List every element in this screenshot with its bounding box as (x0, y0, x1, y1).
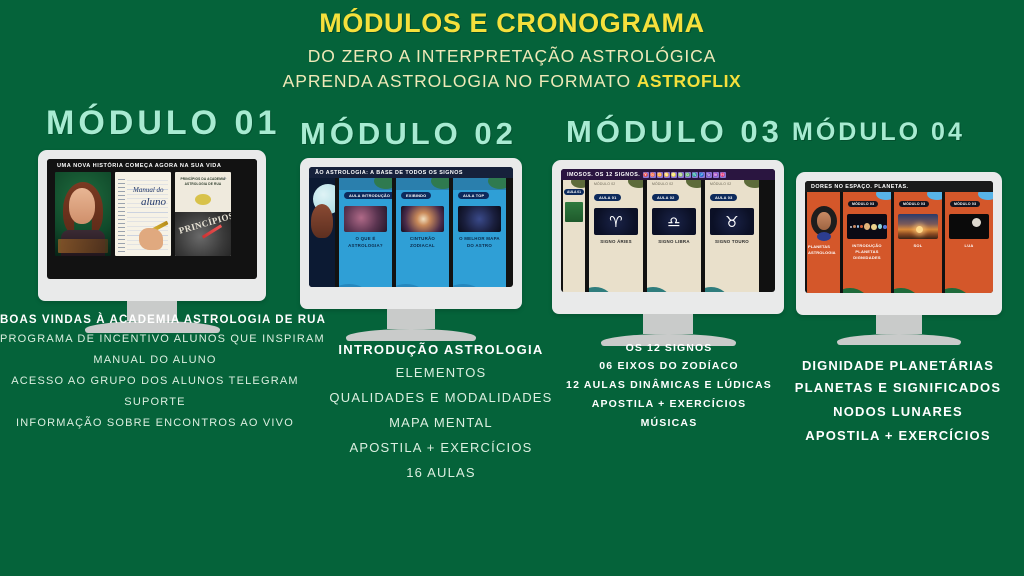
zodiac-glyph: ♌ (671, 172, 677, 178)
module-01-description-line: ACESSO AO GRUPO DOS ALUNOS TELEGRAM (0, 371, 310, 392)
module-03-description-heading: OS 12 SIGNOS (556, 342, 782, 354)
card-caption: SOL (894, 243, 942, 249)
card-caption: SIGNO ÁRIES (589, 239, 643, 246)
lesson-card[interactable]: MÓDULO 03 LUA (945, 192, 993, 293)
module-02-description-line: 16 AULAS (322, 460, 560, 485)
decor-blob (927, 192, 942, 200)
screen-content-module-03: IMOSOS. OS 12 SIGNOS. ♈♉♊♋♌♍♎♏♐♑♒♓ AULA … (561, 169, 775, 292)
card-lesson-pill: AULA INTRODUÇÃO (344, 192, 392, 199)
card-caption: LUA (945, 243, 993, 249)
card-caption: CINTURÃO ZODIACAL (396, 236, 449, 249)
module-heading-01: MÓDULO 01 (46, 104, 280, 143)
card-lesson-pill: AULA 02 (652, 194, 679, 201)
zodiac-libra-icon: ♎ (652, 208, 696, 235)
zodiac-glyph: ♐ (699, 172, 705, 178)
zodiac-glyph: ♉ (650, 172, 656, 178)
decor-blob (945, 288, 971, 293)
decor-blob (589, 287, 613, 292)
sun-icon (916, 226, 923, 233)
module-heading-02: MÓDULO 02 (300, 116, 517, 152)
module-02-description-heading: INTRODUÇÃO ASTROLOGIA (322, 342, 560, 357)
screen-header-module-01: UMA NOVA HISTÓRIA COMEÇA AGORA NA SUA VI… (47, 159, 257, 172)
module-04-description: DIGNIDADE PLANETÁRIAS PLANETAS E SIGNIFI… (772, 358, 1024, 448)
card-thumbnail (847, 214, 887, 239)
decor-blob (571, 180, 585, 188)
side-lesson-pill: AULA 01 (564, 189, 584, 195)
side-panel-intro: AULA 01 (563, 180, 585, 292)
module-01-description: BOAS VINDAS À ACADEMIA ASTROLOGIA DE RUA… (0, 314, 310, 434)
decor-blob (744, 180, 759, 188)
zodiac-taurus-icon: ♉ (710, 208, 754, 235)
card-thumbnail (898, 214, 938, 239)
lesson-card[interactable]: MÓDULO 01 EXIBINDO CINTURÃO ZODIACAL (396, 178, 449, 287)
screen-content-module-02: ÃO ASTROLOGIA: A BASE DE TODOS OS SIGNOS… (309, 167, 513, 287)
module-03-description-line: 06 EIXOS DO ZODÍACO (556, 357, 782, 376)
card-title-text: PRINCÍPIOS DA ACADEMIA ASTROLOGIA DE RUA (179, 177, 227, 187)
module-02-description-line: QUALIDADES E MODALIDADES (322, 385, 560, 410)
zodiac-glyph: ♍ (678, 172, 684, 178)
monitor-stand-neck (876, 315, 922, 334)
card-thumbnail (458, 206, 501, 232)
card-lesson-pill: MÓDULO 03 (950, 201, 980, 207)
monitor-bezel: ÃO ASTROLOGIA: A BASE DE TODOS OS SIGNOS… (300, 158, 522, 309)
monitor-bezel: UMA NOVA HISTÓRIA COMEÇA AGORA NA SUA VI… (38, 150, 266, 301)
side-panel-presenter (309, 178, 335, 287)
decor-blob (628, 180, 643, 188)
monitor-module-01: UMA NOVA HISTÓRIA COMEÇA AGORA NA SUA VI… (38, 150, 266, 333)
monitor-screen[interactable]: DORES NO ESPAÇO. PLANETAS. PLANETAS ASTR… (805, 181, 993, 293)
module-04-description-line: PLANETAS E SIGNIFICADOS (772, 376, 1024, 400)
card-lesson-pill: AULA 03 (710, 194, 737, 201)
card-thumbnail: ♉ (710, 208, 754, 235)
decor-blob (876, 192, 891, 200)
side-panel-label: PLANETAS ASTROLOGIA (808, 244, 839, 256)
module-03-description-line: MÚSICAS (556, 414, 782, 433)
decor-blob (396, 284, 426, 287)
module-04-description-line: APOSTILA + EXERCÍCIOS (772, 424, 1024, 448)
side-thumbnail (565, 202, 583, 222)
decor-blob (686, 180, 701, 188)
module-02-description-line: MAPA MENTAL (322, 410, 560, 435)
monitor-stand-neck (387, 309, 435, 329)
caption-bar (58, 239, 108, 253)
lesson-card[interactable]: MÓDULO 02 AULA 03 ♉ SIGNO TOURO (705, 180, 759, 292)
monitor-screen[interactable]: UMA NOVA HISTÓRIA COMEÇA AGORA NA SUA VI… (47, 159, 257, 279)
screen-header-module-04: DORES NO ESPAÇO. PLANETAS. (805, 181, 993, 192)
module-02-description: INTRODUÇÃO ASTROLOGIA ELEMENTOS QUALIDAD… (322, 342, 560, 485)
zodiac-glyph: ♋ (664, 172, 670, 178)
zodiac-glyph: ♓ (720, 172, 726, 178)
page-title: MÓDULOS E CRONOGRAMA (0, 8, 1024, 39)
lesson-card[interactable]: MÓDULO 02 AULA 02 ♎ SIGNO LIBRA (647, 180, 701, 292)
zodiac-glyph: ♈ (643, 172, 649, 178)
moon-icon (972, 218, 981, 227)
card-thumbnail (344, 206, 387, 232)
hand-illustration (139, 228, 163, 250)
lesson-card-row: MÓDULO 02 AULA 01 ♈ SIGNO ÁRIES MÓDULO 0… (585, 180, 759, 292)
card-thumbnail (949, 214, 989, 239)
card-caption: INTRODUÇÃO PLANETAS DIGNIDADES (843, 243, 891, 261)
lesson-grid: MÓDULO 01 AULA INTRODUÇÃO O QUE É ASTROL… (309, 178, 513, 287)
decor-blob (453, 284, 483, 287)
module-02-description-line: APOSTILA + EXERCÍCIOS (322, 435, 560, 460)
screen-header-text: IMOSOS. OS 12 SIGNOS. (567, 172, 640, 178)
monitor-stand-neck (643, 314, 693, 334)
zodiac-aries-icon: ♈ (594, 208, 638, 235)
module-heading-04: MÓDULO 04 (792, 118, 965, 147)
subtitle-line-2: APRENDA ASTROLOGIA NO FORMATO ASTROFLIX (0, 71, 1024, 92)
zodiac-glyph: ♏ (692, 172, 698, 178)
brand-astroflix: ASTROFLIX (637, 71, 742, 91)
monitor-screen[interactable]: ÃO ASTROLOGIA: A BASE DE TODOS OS SIGNOS… (309, 167, 513, 287)
module-04-description-heading: DIGNIDADE PLANETÁRIAS (772, 358, 1024, 373)
module-01-description-line: MANUAL DO ALUNO (0, 350, 310, 371)
decor-blob (894, 288, 920, 293)
screen-content-module-04: DORES NO ESPAÇO. PLANETAS. PLANETAS ASTR… (805, 181, 993, 293)
card-lesson-pill: EXIBINDO (401, 192, 431, 199)
zodiac-glyph: ♒ (713, 172, 719, 178)
module-01-description-line: SUPORTE (0, 392, 310, 413)
zodiac-glyph-strip: ♈♉♊♋♌♍♎♏♐♑♒♓ (643, 172, 726, 178)
presenter-face (69, 188, 95, 224)
zodiac-glyph: ♊ (657, 172, 663, 178)
card-thumbnail: ♈ (594, 208, 638, 235)
planets-illustration (847, 214, 887, 239)
course-card-row: Manual do aluno PRINCÍPIOS DA ACADEMIA A… (47, 172, 257, 256)
moon-photo (949, 214, 989, 239)
lesson-card[interactable]: MÓDULO 01 AULA INTRODUÇÃO O QUE É ASTROL… (339, 178, 392, 287)
course-card-thumbnail-manual[interactable]: Manual do aluno (115, 172, 171, 256)
monitor-module-03: IMOSOS. OS 12 SIGNOS. ♈♉♊♋♌♍♎♏♐♑♒♓ AULA … (552, 160, 784, 346)
lesson-grid: AULA 01 MÓDULO 02 AULA 01 ♈ SIGNO (561, 180, 775, 292)
screen-content-module-01: UMA NOVA HISTÓRIA COMEÇA AGORA NA SUA VI… (47, 159, 257, 279)
card-caption: SIGNO LIBRA (647, 239, 701, 246)
monitor-stand-base (837, 334, 961, 345)
lesson-card[interactable]: MÓDULO 02 AULA 01 ♈ SIGNO ÁRIES (589, 180, 643, 292)
screen-header-module-03: IMOSOS. OS 12 SIGNOS. ♈♉♊♋♌♍♎♏♐♑♒♓ (561, 169, 775, 180)
sunset-photo (898, 214, 938, 239)
lesson-card[interactable]: MÓDULO 03 SOL (894, 192, 942, 293)
course-card-thumbnail-presenter[interactable] (55, 172, 111, 256)
side-panel-presenter: PLANETAS ASTROLOGIA (807, 192, 840, 293)
module-03-description-line: 12 AULAS DINÂMICAS E LÚDICAS (556, 376, 782, 395)
module-01-description-line: INFORMAÇÃO SOBRE ENCONTROS AO VIVO (0, 413, 310, 434)
module-01-description-heading: BOAS VINDAS À ACADEMIA ASTROLOGIA DE RUA (0, 314, 310, 326)
module-03-description-line: APOSTILA + EXERCÍCIOS (556, 395, 782, 414)
subtitle-line-2-text: APRENDA ASTROLOGIA NO FORMATO (283, 71, 637, 91)
header: MÓDULOS E CRONOGRAMA DO ZERO A INTERPRET… (0, 8, 1024, 92)
module-03-description: OS 12 SIGNOS 06 EIXOS DO ZODÍACO 12 AULA… (556, 342, 782, 433)
decor-blob (843, 288, 869, 293)
card-lesson-pill: AULA 01 (594, 194, 621, 201)
monitor-module-02: ÃO ASTROLOGIA: A BASE DE TODOS OS SIGNOS… (300, 158, 522, 341)
module-01-description-line: PROGRAMA DE INCENTIVO ALUNOS QUE INSPIRA… (0, 329, 310, 350)
handwriting-aluno: aluno (141, 196, 166, 208)
course-card-thumbnail-principios[interactable]: PRINCÍPIOS DA ACADEMIA ASTROLOGIA DE RUA… (175, 172, 231, 256)
module-heading-03: MÓDULO 03 (566, 114, 783, 150)
monitor-stand-base (346, 329, 476, 341)
module-02-description-line: ELEMENTOS (322, 360, 560, 385)
presenter-photo (311, 204, 333, 238)
zodiac-glyph: ♑ (706, 172, 712, 178)
lesson-grid: PLANETAS ASTROLOGIA MÓDULO 03 (805, 192, 993, 293)
card-caption: O QUE É ASTROLOGIA? (339, 236, 392, 249)
screen-header-module-02: ÃO ASTROLOGIA: A BASE DE TODOS OS SIGNOS (309, 167, 513, 178)
lesson-card[interactable]: MÓDULO 03 (843, 192, 891, 293)
academy-seal-icon (195, 194, 211, 205)
module-04-description-line: NODOS LUNARES (772, 400, 1024, 424)
lesson-card[interactable]: MÓDULO 01 AULA TOP O MELHOR MAPA DO ASTR… (453, 178, 506, 287)
presenter-face (817, 212, 831, 230)
card-thumbnail: ♎ (652, 208, 696, 235)
card-caption: SIGNO TOURO (705, 239, 759, 246)
sparkle-icon: ✧ (223, 176, 227, 182)
course-badge-icon (817, 232, 831, 241)
monitor-module-04: DORES NO ESPAÇO. PLANETAS. PLANETAS ASTR… (796, 172, 1002, 345)
decor-blob (647, 287, 671, 292)
lesson-card-row: MÓDULO 01 AULA INTRODUÇÃO O QUE É ASTROL… (335, 178, 506, 287)
notebook-spiral (118, 176, 125, 252)
zodiac-glyph: ♎ (685, 172, 691, 178)
subtitle-line-1: DO ZERO A INTERPRETAÇÃO ASTROLÓGICA (0, 46, 1024, 67)
card-lesson-pill: MÓDULO 03 (899, 201, 929, 207)
card-lesson-pill: MÓDULO 03 (848, 201, 878, 207)
handwriting-manual: Manual do (133, 186, 164, 194)
card-caption: O MELHOR MAPA DO ASTRO (453, 236, 506, 249)
monitor-screen[interactable]: IMOSOS. OS 12 SIGNOS. ♈♉♊♋♌♍♎♏♐♑♒♓ AULA … (561, 169, 775, 292)
decor-blob (705, 287, 729, 292)
monitor-bezel: DORES NO ESPAÇO. PLANETAS. PLANETAS ASTR… (796, 172, 1002, 315)
card-lesson-pill: AULA TOP (458, 192, 489, 199)
decor-blob (978, 192, 993, 200)
card-thumbnail (401, 206, 444, 232)
decor-blob (339, 284, 369, 287)
monitor-bezel: IMOSOS. OS 12 SIGNOS. ♈♉♊♋♌♍♎♏♐♑♒♓ AULA … (552, 160, 784, 314)
